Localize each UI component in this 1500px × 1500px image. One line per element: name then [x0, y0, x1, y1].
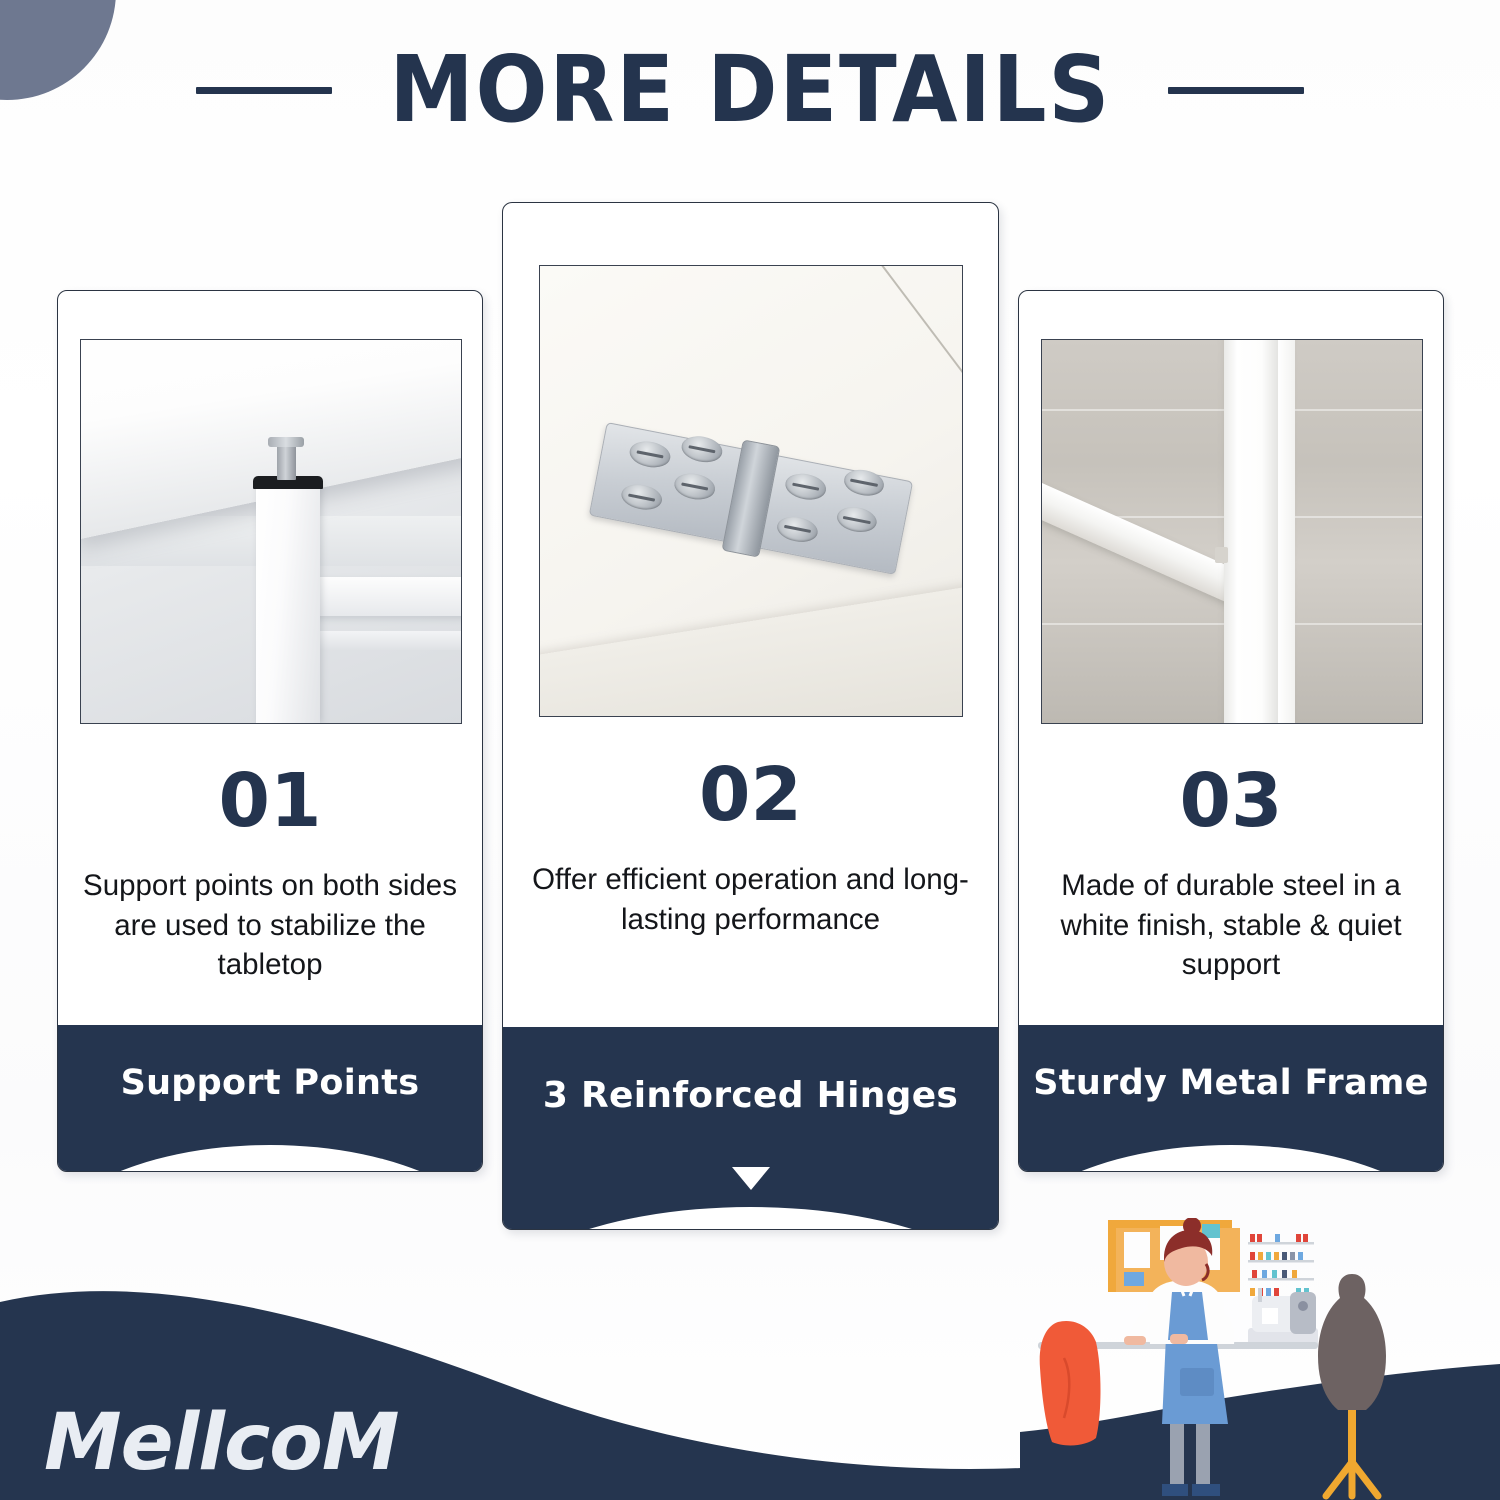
card-1-footer: Support Points: [57, 1025, 483, 1172]
card-3-footer-label: Sturdy Metal Frame: [1018, 1063, 1444, 1103]
page-header: MORE DETAILS: [0, 30, 1500, 150]
orange-fabric: [1040, 1321, 1101, 1446]
page-title: MORE DETAILS: [389, 44, 1111, 136]
detail-card-3[interactable]: 03 Made of durable steel in a white fini…: [1018, 290, 1444, 1172]
detail-card-2[interactable]: 02 Offer efficient operation and long-la…: [502, 202, 999, 1230]
thread-spool-shelves: [1248, 1234, 1314, 1296]
card-1-number: 01: [58, 764, 482, 838]
card-2-description: Offer efficient operation and long-lasti…: [517, 860, 984, 939]
card-2-number: 02: [503, 758, 998, 832]
seamstress-workshop-illustration: [1020, 1218, 1500, 1500]
title-rule-right: [1168, 87, 1304, 94]
table-leg-support-point-photo: [81, 340, 461, 723]
metal-hinge-plate-photo: [540, 266, 962, 716]
title-rule-left: [196, 87, 332, 94]
card-3-description: Made of durable steel in a white finish,…: [1033, 866, 1429, 985]
chevron-down-icon[interactable]: [732, 1167, 770, 1190]
card-3-photo-frame: [1041, 339, 1423, 724]
card-3-footer: Sturdy Metal Frame: [1018, 1025, 1444, 1172]
card-2-footer: 3 Reinforced Hinges: [502, 1027, 999, 1230]
card-1-description: Support points on both sides are used to…: [72, 866, 468, 985]
hinge-icon: [589, 422, 914, 574]
card-1-photo-frame: [80, 339, 462, 724]
white-steel-frame-leg-photo: [1042, 340, 1422, 723]
card-3-number: 03: [1019, 764, 1443, 838]
card-1-footer-curve: [57, 1145, 483, 1172]
detail-card-1[interactable]: 01 Support points on both sides are used…: [57, 290, 483, 1172]
sewing-machine: [1248, 1288, 1318, 1346]
card-2-footer-label: 3 Reinforced Hinges: [502, 1075, 999, 1116]
card-2-photo-frame: [539, 265, 963, 717]
infographic-page: MORE DETAILS 01 Support points on both s…: [0, 0, 1500, 1500]
brand-logo: MellcoM: [44, 1404, 398, 1482]
card-3-footer-curve: [1018, 1145, 1444, 1172]
card-1-footer-label: Support Points: [57, 1063, 483, 1103]
card-2-footer-curve: [502, 1207, 999, 1230]
